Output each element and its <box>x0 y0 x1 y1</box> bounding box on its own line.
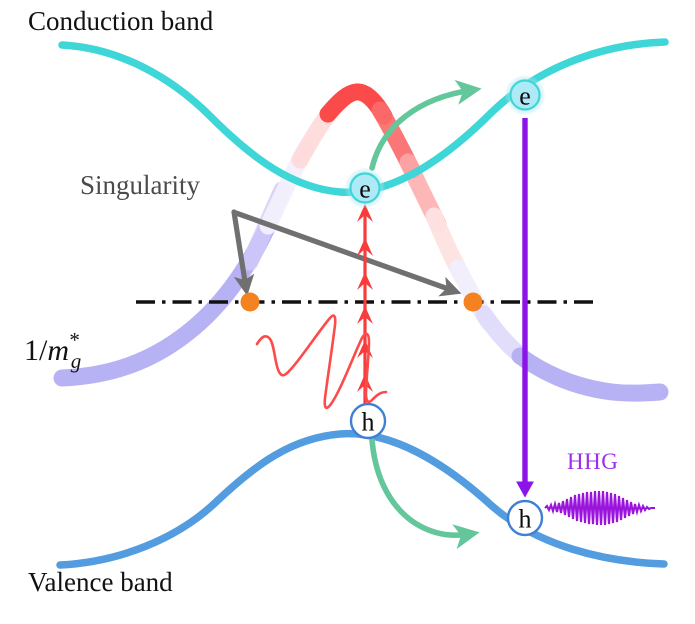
figure-canvas: e e h h Conduction band Valence band Sin… <box>0 0 695 624</box>
conduction-band-label: Conduction band <box>28 8 213 35</box>
carrier-electron-1-label: e <box>359 175 371 204</box>
singularity-label: Singularity <box>80 172 200 199</box>
inverse-effective-mass-label: 1/m*g <box>24 336 90 366</box>
hhg-label: HHG <box>567 450 618 473</box>
driver-laser-pulse <box>257 316 386 408</box>
band-structure-diagram: e e h h <box>0 0 695 624</box>
valence-band-label: Valence band <box>28 569 173 596</box>
singularity-pointer-right-arrow <box>236 213 454 291</box>
inverse-mass-subscript: g <box>71 349 82 373</box>
singularity-marker-right <box>464 293 483 312</box>
multiphoton-excitation-arrow <box>357 204 373 410</box>
carrier-hole-1-label: h <box>362 408 375 437</box>
inverse-effective-mass-curve <box>62 92 660 393</box>
hhg-attosecond-burst <box>545 491 655 525</box>
singularity-marker-left <box>241 293 260 312</box>
carrier-hole-2: h <box>508 501 542 535</box>
carrier-hole-1: h <box>351 404 385 438</box>
inverse-mass-prefix: 1/ <box>24 334 47 367</box>
carrier-electron-1: e <box>345 168 385 208</box>
carrier-hole-2-label: h <box>519 505 532 534</box>
carrier-electron-2-label: e <box>519 82 531 111</box>
carrier-electron-2: e <box>505 75 545 115</box>
inverse-mass-symbol: m <box>47 334 69 367</box>
